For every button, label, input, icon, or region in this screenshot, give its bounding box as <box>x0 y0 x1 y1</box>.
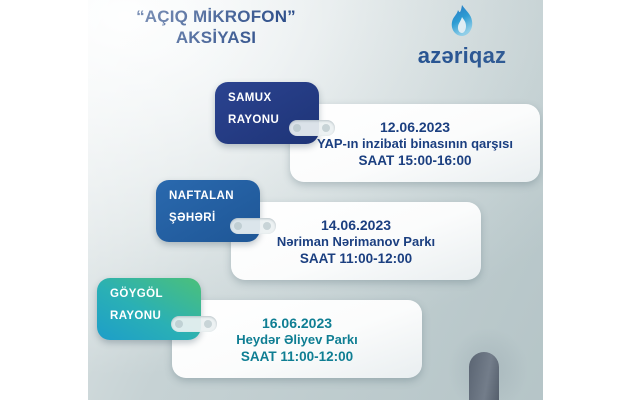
poster-canvas: “AÇIQ MİKROFON” AKSİYASI azəriqaz SAMUX <box>88 0 543 400</box>
page-title-line-1: “AÇIQ MİKROFON” <box>96 6 336 27</box>
event-row: SAMUX RAYONU 12.06.2023 YAP-ın inzibati … <box>88 82 543 182</box>
event-place: Heydər Əliyev Parkı <box>226 332 367 348</box>
event-location-tag: GÖYGÖL RAYONU <box>97 278 201 340</box>
event-date: 16.06.2023 <box>262 314 332 332</box>
azeriqaz-wordmark: azəriqaz <box>398 44 526 68</box>
tag-line-1: GÖYGÖL <box>110 288 201 301</box>
chain-link-hole <box>289 120 335 136</box>
event-time: SAAT 15:00-16:00 <box>358 152 471 169</box>
event-time: SAAT 11:00-12:00 <box>241 348 353 365</box>
event-card: 16.06.2023 Heydər Əliyev Parkı SAAT 11:0… <box>172 300 422 378</box>
event-date: 14.06.2023 <box>321 216 391 234</box>
chain-link-hole <box>171 316 217 332</box>
gas-flame-icon <box>398 4 526 43</box>
page-title: “AÇIQ MİKROFON” AKSİYASI <box>96 6 336 48</box>
event-card: 12.06.2023 YAP-ın inzibati binasının qar… <box>290 104 540 182</box>
event-place: YAP-ın inzibati binasının qarşısı <box>307 136 523 152</box>
event-time: SAAT 11:00-12:00 <box>300 250 412 267</box>
page-title-line-2: AKSİYASI <box>96 27 336 48</box>
chain-link-hole <box>230 218 276 234</box>
tag-line-1: SAMUX <box>228 92 319 105</box>
event-row: NAFTALAN ŞƏHƏRİ 14.06.2023 Nəriman Nərim… <box>88 180 543 280</box>
event-card: 14.06.2023 Nəriman Nərimanov Parkı SAAT … <box>231 202 481 280</box>
event-place: Nəriman Nərimanov Parkı <box>267 234 445 250</box>
tag-line-1: NAFTALAN <box>169 190 260 203</box>
azeriqaz-logo: azəriqaz <box>398 4 526 68</box>
event-location-tag: NAFTALAN ŞƏHƏRİ <box>156 180 260 242</box>
microphone-icon <box>469 352 499 400</box>
event-location-tag: SAMUX RAYONU <box>215 82 319 144</box>
event-date: 12.06.2023 <box>380 118 450 136</box>
